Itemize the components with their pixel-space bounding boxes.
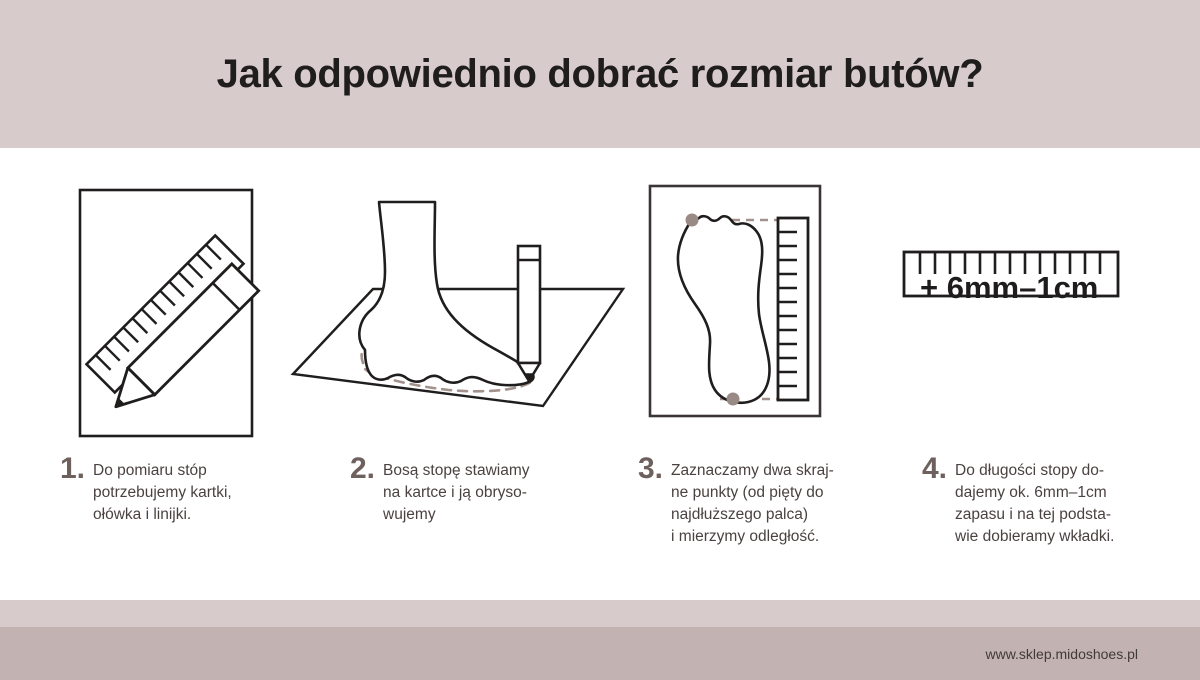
step-line: Bosą stopę stawiamy [383,460,529,482]
step-number: 1. [60,454,85,484]
step-line: Do pomiaru stóp [93,460,232,482]
step-number: 4. [922,454,947,484]
step-line: i mierzymy odległość. [671,526,834,548]
step-item-4: 4. Do długości stopy do- dajemy ok. 6mm–… [922,448,1192,548]
step-text: Zaznaczamy dwa skraj- ne punkty (od pięt… [671,460,834,548]
step-text: Do długości stopy do- dajemy ok. 6mm–1cm… [955,460,1114,548]
step-line: wie dobieramy wkładki. [955,526,1114,548]
step-item-1: 1. Do pomiaru stóp potrzebujemy kartki, … [60,448,325,526]
step-item-3: 3. Zaznaczamy dwa skraj- ne punkty (od p… [638,448,910,548]
illustration-foot-tracing [285,188,630,443]
step-item-2: 2. Bosą stopę stawiamy na kartce i ją ob… [350,448,615,526]
step-line: potrzebujemy kartki, [93,482,232,504]
ruler-icon [778,218,808,400]
marker-dot-heel [727,393,740,406]
infographic-page: Jak odpowiednio dobrać rozmiar butów? [0,0,1200,680]
step-number: 2. [350,454,375,484]
pencil-icon [518,246,540,381]
step-line: Do długości stopy do- [955,460,1114,482]
page-title: Jak odpowiednio dobrać rozmiar butów? [0,0,1200,148]
illustration-allowance-ruler [900,248,1170,378]
footer-website-url[interactable]: www.sklep.midoshoes.pl [985,627,1138,680]
step-line: ne punkty (od pięty do [671,482,834,504]
step-text: Do pomiaru stóp potrzebujemy kartki, ołó… [93,460,232,526]
illustration-foot-measure [645,180,850,442]
step-line: Zaznaczamy dwa skraj- [671,460,834,482]
step-line: wujemy [383,504,529,526]
step-text: Bosą stopę stawiamy na kartce i ją obrys… [383,460,529,526]
footer-light-band [0,600,1200,627]
step-line: ołówka i linijki. [93,504,232,526]
step-number: 3. [638,454,663,484]
steps-row: 1. Do pomiaru stóp potrzebujemy kartki, … [0,448,1200,600]
step-line: zapasu i na tej podsta- [955,504,1114,526]
allowance-label: + 6mm–1cm [920,270,1098,306]
step-line: najdłuższego palca) [671,504,834,526]
marker-dot-toe [686,214,699,227]
step-line: dajemy ok. 6mm–1cm [955,482,1114,504]
step-line: na kartce i ją obryso- [383,482,529,504]
